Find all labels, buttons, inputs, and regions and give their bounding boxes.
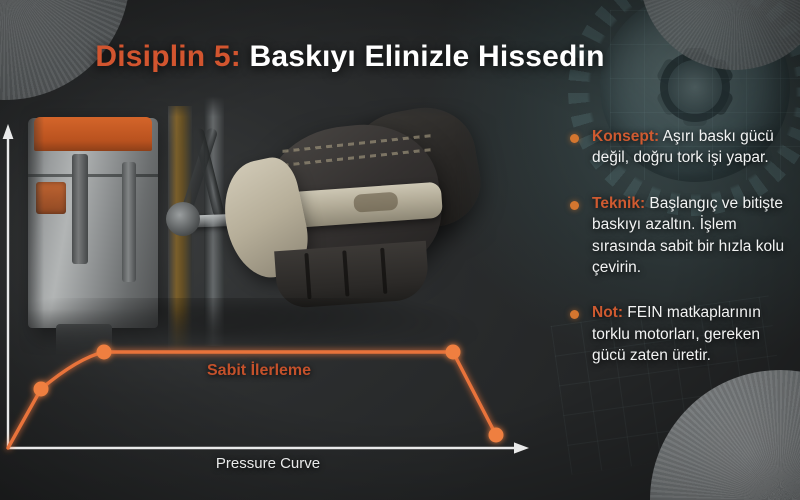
chart-annotation: Sabit İlerleme <box>207 362 311 380</box>
x-axis <box>8 442 529 453</box>
pressure-curve-chart: Sabit İlerleme Pressure Curve <box>0 0 560 500</box>
chart-xlabel: Pressure Curve <box>0 455 536 472</box>
bullet-item-teknik: Teknik: Başlangıç ve bitişte baskıyı aza… <box>570 193 792 279</box>
chart-svg <box>0 0 560 500</box>
bullet-text: Teknik: Başlangıç ve bitişte baskıyı aza… <box>592 193 792 279</box>
bullet-lead: Teknik: <box>592 195 645 212</box>
y-axis <box>3 124 14 448</box>
bullet-item-not: Not: FEIN matkaplarının torklu motorları… <box>570 302 792 366</box>
bullet-dot-icon <box>570 201 579 210</box>
bullet-text: Not: FEIN matkaplarının torklu motorları… <box>592 302 792 366</box>
slide-root: Disiplin 5: Baskıyı Elinizle Hissedin <box>0 0 800 500</box>
chart-series-pressure <box>8 345 504 449</box>
data-point <box>489 428 504 443</box>
data-point <box>97 345 112 360</box>
bullet-list: Konsept: Aşırı baskı gücü değil, doğru t… <box>570 126 792 390</box>
data-point <box>34 382 49 397</box>
bullet-lead: Konsept: <box>592 128 659 145</box>
bullet-lead: Not: <box>592 304 623 321</box>
bullet-dot-icon <box>570 134 579 143</box>
bullet-item-konsept: Konsept: Aşırı baskı gücü değil, doğru t… <box>570 126 792 169</box>
bullet-dot-icon <box>570 310 579 319</box>
bullet-text: Konsept: Aşırı baskı gücü değil, doğru t… <box>592 126 792 169</box>
data-point <box>446 345 461 360</box>
